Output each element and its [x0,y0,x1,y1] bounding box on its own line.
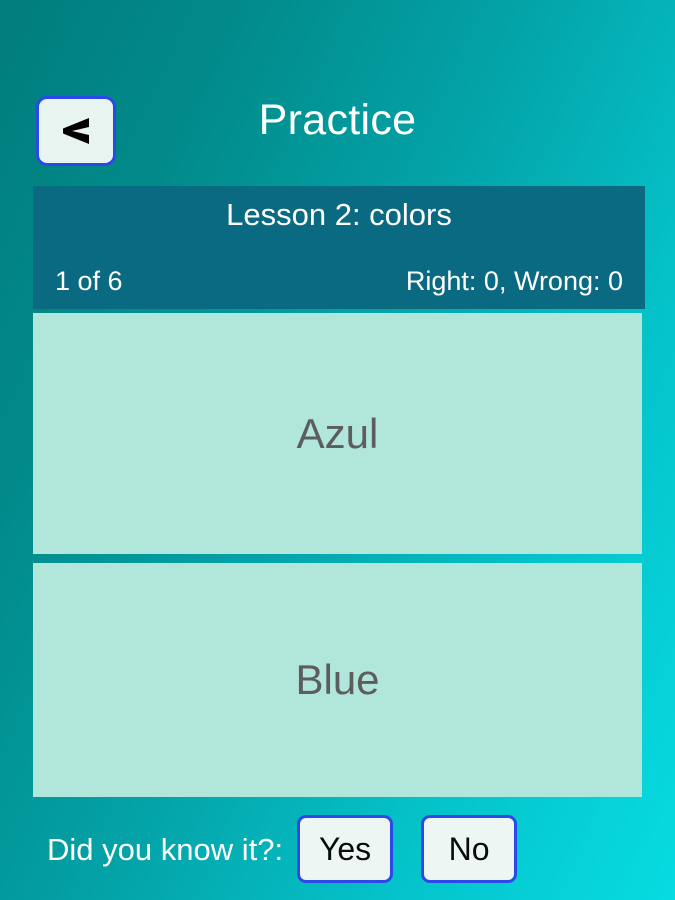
score-counter: Right: 0, Wrong: 0 [406,268,623,295]
flashcard-term[interactable]: Azul [33,313,642,554]
flashcard-translation[interactable]: Blue [33,563,642,797]
page-title: Practice [0,99,675,142]
answer-bar: Did you know it?: Yes No [0,797,675,900]
flashcard-translation-text: Blue [295,659,379,701]
yes-button[interactable]: Yes [297,815,393,883]
progress-counter: 1 of 6 [55,268,123,295]
lesson-banner: Lesson 2: colors 1 of 6 Right: 0, Wrong:… [33,186,645,309]
lesson-title: Lesson 2: colors [33,199,645,230]
no-button[interactable]: No [421,815,517,883]
progress-row: 1 of 6 Right: 0, Wrong: 0 [33,268,645,295]
flashcard-term-text: Azul [297,413,379,455]
app-header: Practice [0,0,675,186]
answer-prompt: Did you know it?: [47,834,283,865]
